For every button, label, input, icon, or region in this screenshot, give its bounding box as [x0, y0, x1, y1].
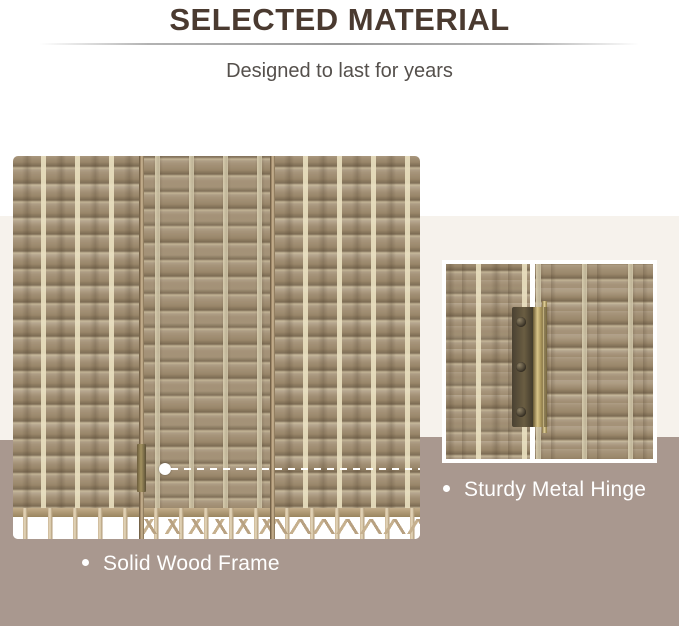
caption-label: Sturdy Metal Hinge — [464, 478, 646, 501]
header-divider — [40, 43, 639, 45]
bottom-spindle-rail — [13, 508, 141, 539]
caption-solid-wood-frame: Solid Wood Frame — [82, 552, 280, 576]
x-lattice-detail — [144, 519, 272, 534]
bottom-spindle-rail — [144, 508, 272, 539]
rattan-weave-texture — [275, 156, 420, 508]
rattan-room-divider-photo — [13, 156, 420, 539]
inset-weave-right — [535, 264, 653, 459]
rattan-weave-texture — [13, 156, 141, 508]
rattan-weave-texture — [535, 264, 653, 459]
bullet-dot-icon — [82, 559, 89, 566]
divider-panel-right — [275, 156, 420, 539]
divider-panel-middle — [144, 156, 272, 539]
bottom-spindle-rail — [275, 508, 420, 539]
hinge-screw-icon — [516, 317, 526, 327]
background-band-mauve-right — [420, 437, 679, 626]
hinge-screw-icon — [516, 362, 526, 372]
dashed-leader-line — [171, 468, 420, 470]
spindle-bars — [13, 508, 141, 539]
metal-butt-hinge — [512, 307, 550, 427]
x-lattice-detail — [275, 519, 420, 534]
caption-sturdy-metal-hinge: Sturdy Metal Hinge — [443, 478, 646, 502]
page-title: SELECTED MATERIAL — [0, 0, 679, 40]
hinge-closeup-inset — [442, 260, 657, 463]
header: SELECTED MATERIAL Designed to last for y… — [0, 0, 679, 100]
hinge-shadow — [544, 307, 550, 427]
rattan-weave-texture — [144, 156, 272, 508]
metal-hinge-icon — [137, 444, 146, 492]
hinge-callout-dot — [159, 463, 171, 475]
caption-label: Solid Wood Frame — [103, 552, 280, 575]
divider-panel-left — [13, 156, 141, 539]
hinge-plate — [512, 307, 534, 427]
hinge-screw-icon — [516, 407, 526, 417]
bullet-dot-icon — [443, 485, 450, 492]
page-subtitle: Designed to last for years — [0, 57, 679, 85]
